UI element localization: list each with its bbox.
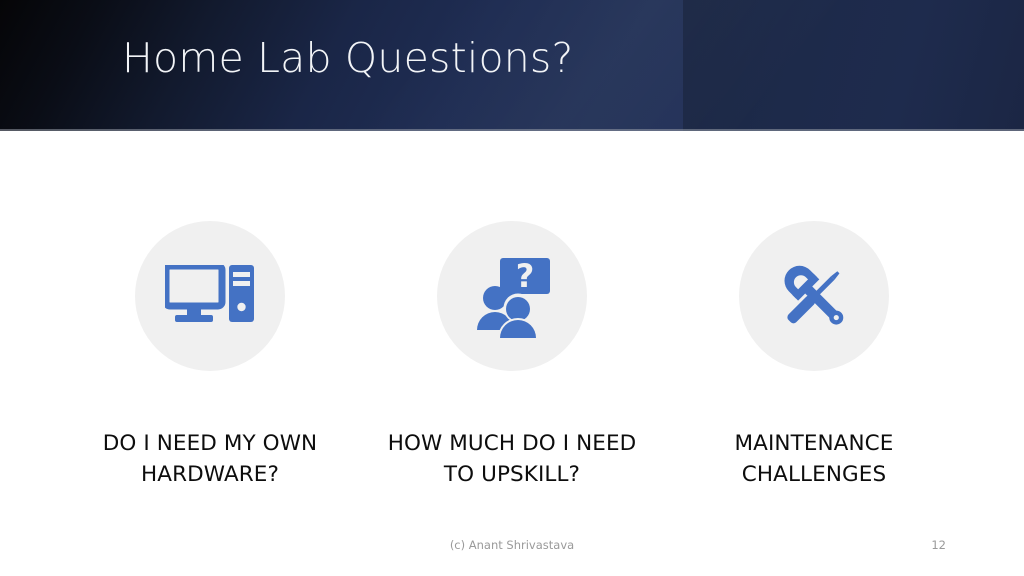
caption-hardware-line1: DO I NEED MY OWN [65, 429, 355, 460]
caption-hardware: DO I NEED MY OWN HARDWARE? [65, 429, 355, 490]
column-maintenance: MAINTENANCE CHALLENGES [664, 131, 964, 490]
page-title: Home Lab Questions? [122, 35, 882, 82]
slide: Home Lab Questions? [0, 0, 1024, 576]
people-question-icon: ? [470, 254, 554, 338]
caption-maintenance-line1: MAINTENANCE [669, 429, 959, 460]
icon-circle-hardware [135, 221, 285, 371]
tools-wrench-screwdriver-icon [772, 254, 856, 338]
icon-circle-maintenance [739, 221, 889, 371]
caption-hardware-line2: HARDWARE? [65, 460, 355, 491]
caption-upskill-line2: TO UPSKILL? [367, 460, 657, 491]
content-columns: DO I NEED MY OWN HARDWARE? ? [0, 131, 1024, 521]
desktop-computer-icon [165, 265, 255, 327]
page-number: 12 [931, 538, 946, 552]
caption-maintenance-line2: CHALLENGES [669, 460, 959, 491]
caption-upskill: HOW MUCH DO I NEED TO UPSKILL? [367, 429, 657, 490]
caption-maintenance: MAINTENANCE CHALLENGES [669, 429, 959, 490]
icon-circle-upskill: ? [437, 221, 587, 371]
svg-text:?: ? [516, 257, 535, 295]
caption-upskill-line1: HOW MUCH DO I NEED [367, 429, 657, 460]
footer-credit: (c) Anant Shrivastava [0, 538, 1024, 552]
column-hardware: DO I NEED MY OWN HARDWARE? [60, 131, 360, 490]
column-upskill: ? HOW MUCH DO I NEED TO UPSKILL? [362, 131, 662, 490]
